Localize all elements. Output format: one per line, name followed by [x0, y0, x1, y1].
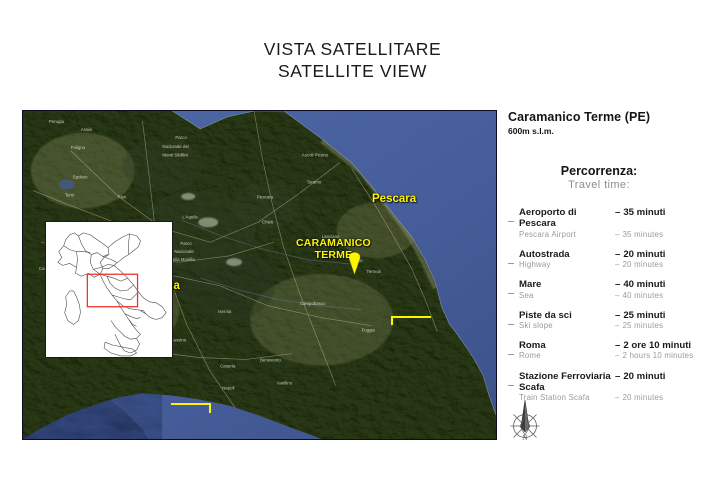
value-separator-dash: – [615, 260, 620, 269]
page-title-italian: VISTA SATELLITARE [0, 38, 705, 60]
map-minor-label: Nazionale dei [162, 144, 188, 149]
travel-row-value-italian: –20 minuti [615, 249, 665, 260]
travel-row-value-english: –2 hours 10 minutes [615, 351, 693, 360]
map-minor-label: Parco [180, 241, 192, 246]
travel-row-duration-english: 25 minutes [623, 321, 664, 330]
travel-row-duration-english: 35 minutes [623, 230, 664, 239]
map-minor-label: Benevento [260, 357, 281, 362]
travel-row-duration-italian: 40 minuti [623, 279, 665, 290]
travel-row-english: Pescara Airport–35 minutes [519, 230, 698, 240]
travel-row-duration-italian: 2 ore 10 minuti [623, 340, 691, 351]
row-bullet-dash [508, 385, 514, 386]
value-separator-dash: – [615, 351, 620, 360]
travel-row-duration-italian: 25 minuti [623, 310, 665, 321]
satellite-map[interactable]: PerugiaAssisiFolignoParcoNazionale deiMo… [22, 110, 497, 440]
map-minor-label: L'Aquila [182, 214, 198, 219]
compass-north-label: N [522, 434, 527, 442]
travel-row-label-italian: Stazione Ferroviaria Scafa [519, 371, 615, 394]
map-minor-label: Monti Sibillini [162, 153, 187, 158]
roma-leader-tick [209, 403, 211, 413]
value-separator-dash: – [615, 291, 620, 300]
italy-outline-svg [46, 222, 172, 357]
travel-row-duration-italian: 35 minuti [623, 207, 665, 218]
row-bullet-dash [508, 324, 514, 325]
map-minor-label: Lanciano [322, 234, 340, 239]
travel-row-duration-italian: 20 minuti [623, 371, 665, 382]
map-minor-label: Caserta [220, 363, 236, 368]
travel-row-value-english: –20 minutes [615, 393, 663, 402]
travel-row-duration-italian: 20 minuti [623, 249, 665, 260]
travel-row-label-italian: Aeroporto di Pescara [519, 207, 615, 230]
value-separator-dash: – [615, 279, 620, 290]
map-minor-label: Rieti [118, 194, 127, 199]
travel-row-duration-english: 40 minutes [623, 291, 664, 300]
travel-row-italian: Stazione Ferroviaria Scafa–20 minuti [519, 371, 698, 394]
map-minor-label: Terni [65, 192, 74, 197]
travel-time-heading-english: Travel time: [508, 179, 690, 191]
travel-row-duration-english: 2 hours 10 minutes [623, 351, 694, 360]
travel-row-italian: Autostrada–20 minuti [519, 249, 698, 260]
map-minor-label: Pescara [257, 194, 274, 199]
map-minor-label: Napoli [222, 385, 234, 390]
map-minor-label: della Maiella [170, 257, 195, 262]
travel-row-english: Ski slope–25 minutes [519, 321, 698, 331]
value-separator-dash: – [615, 321, 620, 330]
map-minor-label: Teramo [307, 180, 322, 185]
travel-row-value-italian: –35 minuti [615, 207, 665, 218]
place-name: Caramanico Terme (PE) [508, 110, 698, 124]
travel-row-english: Sea–40 minutes [519, 291, 698, 301]
pescara-leader-tick [391, 316, 393, 325]
value-separator-dash: – [615, 340, 620, 351]
locator-inset-map [45, 221, 173, 358]
travel-row-value-italian: –25 minuti [615, 310, 665, 321]
travel-time-list: Aeroporto di Pescara–35 minutiPescara Ai… [508, 207, 698, 403]
compass-rose-icon: N [505, 399, 545, 445]
travel-row-label-italian: Piste da sci [519, 310, 615, 321]
travel-row-label-english: Rome [519, 351, 615, 361]
travel-row-label-english: Ski slope [519, 321, 615, 331]
travel-row-value-english: –35 minutes [615, 230, 663, 239]
travel-row-duration-english: 20 minutes [623, 393, 664, 402]
travel-row-english: Train Station Scafa–20 minutes [519, 393, 698, 403]
travel-row-english: Rome–2 hours 10 minutes [519, 351, 698, 361]
map-minor-label: Campobasso [300, 301, 326, 306]
value-separator-dash: – [615, 393, 620, 402]
value-separator-dash: – [615, 230, 620, 239]
travel-row-label-english: Sea [519, 291, 615, 301]
map-pin-icon [348, 252, 361, 274]
map-minor-label: Foggia [362, 328, 376, 333]
info-panel: Caramanico Terme (PE) 600m s.l.m. Percor… [508, 110, 698, 412]
travel-row-italian: Aeroporto di Pescara–35 minuti [519, 207, 698, 230]
map-minor-label: Chieti [262, 219, 273, 224]
travel-row-value-english: –40 minutes [615, 291, 663, 300]
travel-time-row: Roma–2 ore 10 minutiRome–2 hours 10 minu… [508, 340, 698, 361]
row-bullet-dash [508, 263, 514, 264]
pescara-leader-line [391, 316, 431, 318]
travel-time-heading: Percorrenza: Travel time: [508, 164, 698, 191]
place-altitude: 600m s.l.m. [508, 126, 698, 136]
travel-row-value-italian: –20 minuti [615, 371, 665, 382]
value-separator-dash: – [615, 371, 620, 382]
travel-row-label-italian: Mare [519, 279, 615, 290]
value-separator-dash: – [615, 310, 620, 321]
row-bullet-dash [508, 354, 514, 355]
travel-time-row: Mare–40 minutiSea–40 minutes [508, 279, 698, 300]
row-bullet-dash [508, 221, 514, 222]
map-minor-label: Assisi [81, 127, 92, 132]
map-minor-label: Avellino [277, 380, 293, 385]
travel-row-label-italian: Roma [519, 340, 615, 351]
travel-row-duration-english: 20 minutes [623, 260, 664, 269]
travel-row-label-english: Highway [519, 260, 615, 270]
value-separator-dash: – [615, 207, 620, 218]
map-minor-label: Isernia [218, 309, 232, 314]
travel-time-heading-italian: Percorrenza: [508, 164, 690, 178]
travel-row-label-english: Pescara Airport [519, 230, 615, 240]
travel-row-english: Highway–20 minutes [519, 260, 698, 270]
roma-leader-line [171, 403, 211, 405]
travel-row-value-english: –20 minutes [615, 260, 663, 269]
travel-row-italian: Piste da sci–25 minuti [519, 310, 698, 321]
page-title: VISTA SATELLITARE SATELLITE VIEW [0, 38, 705, 83]
page-title-english: SATELLITE VIEW [0, 60, 705, 82]
map-minor-label: Termoli [367, 269, 381, 274]
map-minor-label: Parco [175, 135, 187, 140]
travel-time-row: Autostrada–20 minutiHighway–20 minutes [508, 249, 698, 270]
travel-time-row: Aeroporto di Pescara–35 minutiPescara Ai… [508, 207, 698, 240]
travel-row-value-english: –25 minutes [615, 321, 663, 330]
map-minor-label: Spoleto [73, 175, 88, 180]
travel-time-row: Piste da sci–25 minutiSki slope–25 minut… [508, 310, 698, 331]
map-minor-label: Perugia [49, 119, 65, 124]
value-separator-dash: – [615, 249, 620, 260]
travel-row-label-italian: Autostrada [519, 249, 615, 260]
map-minor-label: Ascoli Piceno [302, 153, 329, 158]
travel-row-value-italian: –2 ore 10 minuti [615, 340, 691, 351]
travel-row-italian: Mare–40 minuti [519, 279, 698, 290]
map-minor-label: Foligno [71, 145, 86, 150]
travel-row-value-italian: –40 minuti [615, 279, 665, 290]
map-minor-label: Nazionale [174, 249, 194, 254]
travel-row-italian: Roma–2 ore 10 minuti [519, 340, 698, 351]
row-bullet-dash [508, 293, 514, 294]
